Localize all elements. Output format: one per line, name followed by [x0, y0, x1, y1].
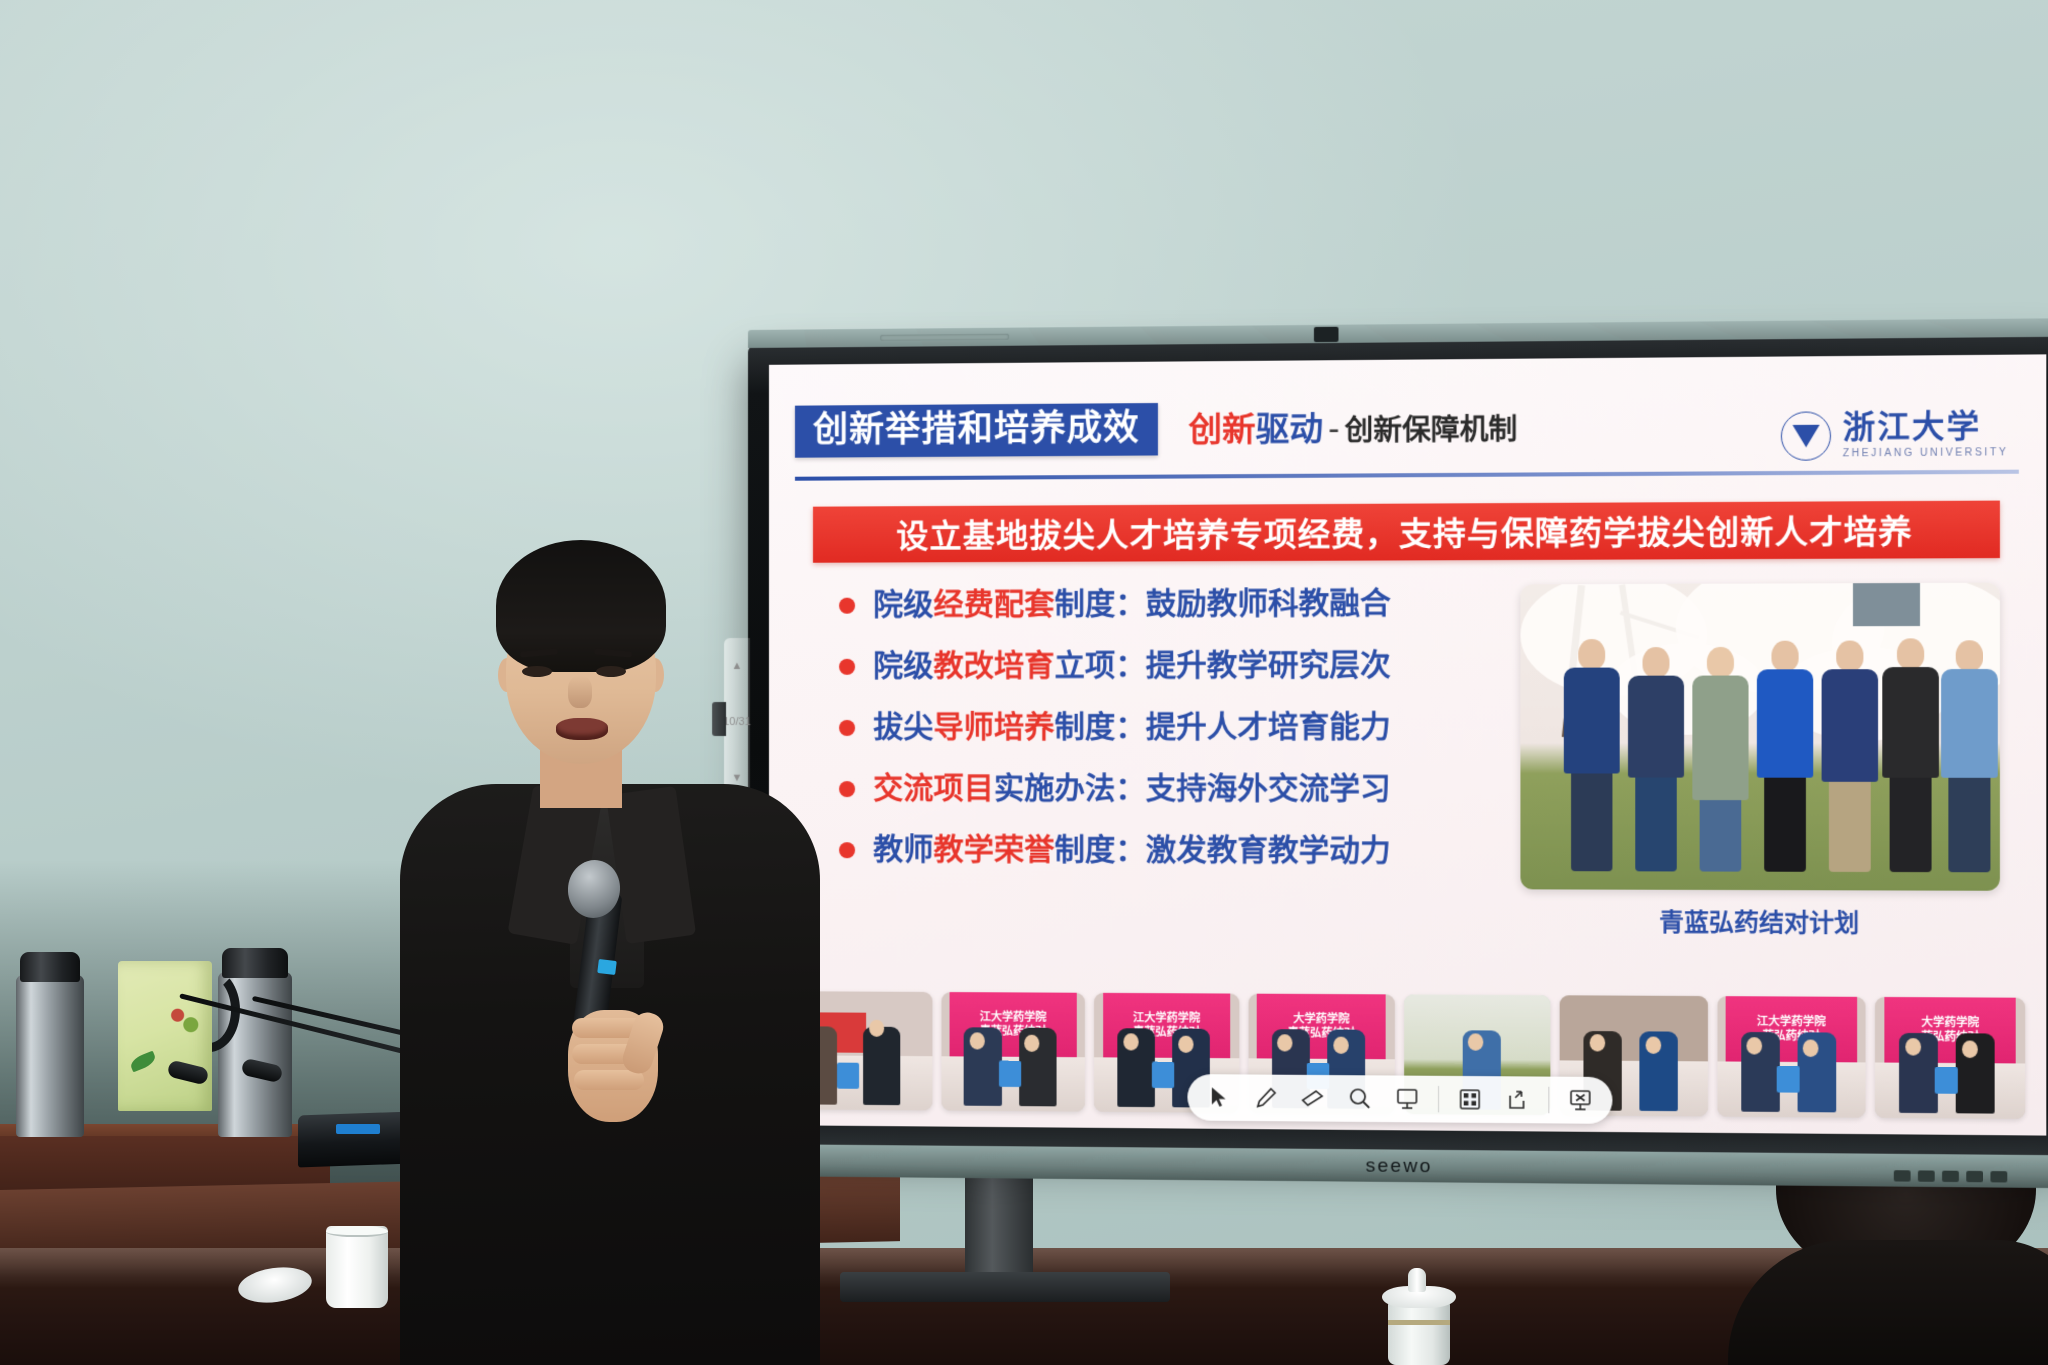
display-microphone-array — [880, 334, 1009, 341]
interactive-whiteboard-display[interactable]: ▲ 10/31 ▼ 创新举措和培养成效 创新驱动-创新保障机制 浙江大学 — [748, 335, 2048, 1158]
person-in-photo — [1692, 647, 1748, 872]
header-divider — [795, 470, 2019, 481]
presenter-eye-right — [596, 666, 626, 677]
bullet-text: 院级经费配套制度：鼓励教师科教融合 — [873, 589, 1391, 621]
microphone-led — [336, 1124, 380, 1134]
teacup-right-knob — [1408, 1268, 1426, 1292]
display-screen[interactable]: 创新举措和培养成效 创新驱动-创新保障机制 浙江大学 ZHEJIANG UNIV… — [769, 354, 2046, 1135]
logo-text-english: ZHEJIANG UNIVERSITY — [1843, 447, 2009, 459]
logo-text-block: 浙江大学 ZHEJIANG UNIVERSITY — [1843, 411, 2009, 459]
teacup-left — [326, 1226, 388, 1308]
bullet-text: 教师教学荣誉制度：激发教育教学动力 — [873, 835, 1391, 866]
filmstrip-thumb[interactable]: 江大学药学院 青蓝弘药结对 — [941, 992, 1085, 1112]
building-background — [1853, 583, 1920, 626]
eraser-icon[interactable] — [1291, 1079, 1334, 1118]
person-in-photo — [1757, 641, 1813, 872]
person-in-photo — [1882, 638, 1939, 872]
filmstrip-thumb[interactable]: 大学药学院 蓝弘药结对 — [1875, 997, 2025, 1119]
display-stand-base — [840, 1272, 1170, 1302]
presentation-slide: 创新举措和培养成效 创新驱动-创新保障机制 浙江大学 ZHEJIANG UNIV… — [769, 354, 2046, 1135]
banner-text: 设立基地拔尖人才培养专项经费，支持与保障药学拔尖创新人才培养 — [896, 506, 1912, 557]
thermos-cap-right — [222, 948, 288, 978]
toolbar-divider — [1438, 1086, 1439, 1112]
presenter-mouth — [556, 718, 608, 740]
subtitle-dark-part: 创新保障机制 — [1345, 415, 1518, 445]
display-camera-icon — [1314, 327, 1339, 342]
zju-seal-icon — [1781, 411, 1831, 460]
presenter-person — [400, 540, 820, 1365]
subtitle-dash: - — [1328, 411, 1339, 444]
microphone-indicator — [597, 959, 617, 975]
audience-shoulder — [1728, 1240, 2048, 1365]
cursor-icon[interactable] — [1198, 1078, 1241, 1117]
tea-package-graphic — [160, 1000, 204, 1038]
presenter-nose — [568, 676, 592, 708]
person-in-photo — [1628, 647, 1684, 871]
teacup-left-rim — [326, 1226, 388, 1237]
qr-code-icon[interactable] — [1448, 1080, 1491, 1119]
bullet-dot-icon — [839, 720, 855, 736]
presenter-finger — [574, 1070, 644, 1090]
person-in-photo — [1822, 640, 1879, 871]
list-item: 院级教改培育立项：提升教学研究层次 — [839, 651, 1438, 682]
filmstrip-thumb[interactable]: 江大学药学院 蓝弘药结对 — [1717, 996, 1866, 1118]
bullet-dot-icon — [839, 842, 855, 858]
person-in-photo — [1941, 640, 1998, 872]
teacup-right — [1388, 1300, 1450, 1365]
bullet-list: 院级经费配套制度：鼓励教师科教融合 院级教改培育立项：提升教学研究层次 拔尖导师… — [839, 589, 1438, 899]
thermos-flask-left — [16, 975, 84, 1137]
bullet-dot-icon — [839, 781, 855, 797]
list-item: 交流项目实施办法：支持海外交流学习 — [839, 774, 1438, 805]
presenter-eye-left — [522, 666, 552, 677]
toolbar-divider — [1548, 1087, 1549, 1113]
bullet-text: 院级教改培育立项：提升教学研究层次 — [873, 651, 1391, 682]
person-in-photo — [1564, 639, 1620, 871]
bullet-dot-icon — [839, 659, 855, 675]
bullet-dot-icon — [839, 598, 855, 614]
slide-subtitle: 创新驱动-创新保障机制 — [1188, 410, 1517, 446]
display-ports — [1894, 1170, 2007, 1182]
logo-text-chinese: 浙江大学 — [1843, 411, 2009, 444]
thumb-indoor-bg — [1560, 995, 1708, 1063]
slide-header: 创新举措和培养成效 创新驱动-创新保障机制 浙江大学 ZHEJIANG UNIV… — [795, 385, 2019, 468]
bullet-text: 拔尖导师培养制度：提升人才培育能力 — [873, 713, 1391, 743]
pen-icon[interactable] — [1244, 1079, 1287, 1118]
list-item: 教师教学荣誉制度：激发教育教学动力 — [839, 835, 1438, 867]
share-icon[interactable] — [1496, 1080, 1539, 1119]
conference-room-scene: ▲ 10/31 ▼ 创新举措和培养成效 创新驱动-创新保障机制 浙江大学 — [0, 0, 2048, 1365]
magnifier-icon[interactable] — [1338, 1079, 1381, 1118]
bullet-text: 交流项目实施办法：支持海外交流学习 — [873, 774, 1391, 805]
teacup-right-band — [1388, 1320, 1450, 1325]
subtitle-blue-part: 驱动 — [1256, 411, 1323, 445]
photo-caption: 青蓝弘药结对计划 — [1520, 902, 1999, 940]
thermos-cap-left — [20, 952, 80, 982]
group-photo — [1520, 583, 1999, 891]
university-logo: 浙江大学 ZHEJIANG UNIVERSITY — [1781, 410, 2008, 461]
slide-section-chip: 创新举措和培养成效 — [795, 403, 1158, 458]
whiteboard-icon[interactable] — [1386, 1080, 1429, 1119]
slide-key-message-banner: 设立基地拔尖人才培养专项经费，支持与保障药学拔尖创新人才培养 — [813, 501, 2000, 563]
list-item: 拔尖导师培养制度：提升人才培育能力 — [839, 713, 1438, 743]
exit-presentation-icon[interactable] — [1559, 1081, 1602, 1120]
annotation-toolbar[interactable] — [1187, 1074, 1612, 1124]
list-item: 院级经费配套制度：鼓励教师科教融合 — [839, 589, 1438, 621]
subtitle-red-part: 创新 — [1188, 412, 1255, 446]
